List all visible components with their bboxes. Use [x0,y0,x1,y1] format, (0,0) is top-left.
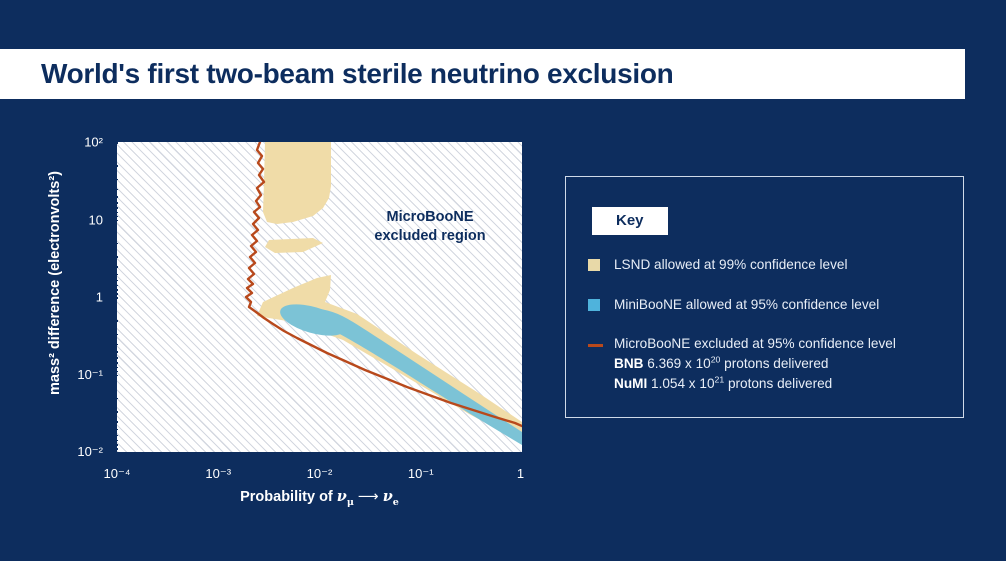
key-title: Key [592,207,668,235]
page-title: World's first two-beam sterile neutrino … [41,58,673,90]
x-tick-label-1e-2: 10⁻² [307,466,333,482]
x-axis: 10⁻⁴ 10⁻³ 10⁻² 10⁻¹ 1 [117,142,522,452]
arrow-icon: ⟶ [358,489,379,505]
exclusion-plot: mass² difference (electronvolts²) MicroB… [0,120,560,540]
bnb-value-after: protons delivered [720,356,828,371]
legend-sub-line-numi: NuMI 1.054 x 1021 protons delivered [614,374,896,394]
numi-value-after: protons delivered [724,376,832,391]
y-tick-label-100: 10² [58,135,103,150]
legend-item-lsnd: LSND allowed at 99% confidence level [588,255,951,275]
key-item-list: LSND allowed at 99% confidence level Min… [588,255,951,414]
legend-sub-line-bnb: BNB 6.369 x 1020 protons delivered [614,354,896,374]
bnb-label: BNB [614,356,643,371]
numi-label: NuMI [614,376,647,391]
x-axis-title-prefix: Probability of [240,489,333,505]
title-band: World's first two-beam sterile neutrino … [0,49,965,99]
legend-item-microboone: MicroBooNE excluded at 95% confidence le… [588,334,951,393]
bnb-value-before: 6.369 x 10 [643,356,710,371]
x-tick-label-1e-4: 10⁻⁴ [104,466,131,482]
miniboone-swatch-icon [588,299,600,311]
x-tick-label-1e-1: 10⁻¹ [408,466,434,482]
nu-mu-symbol: νμ [337,488,354,505]
y-tick-label-0.1: 10⁻¹ [58,367,103,383]
numi-value-before: 1.054 x 10 [647,376,714,391]
nu-e-symbol: νe [383,488,399,505]
legend-item-microboone-label: MicroBooNE excluded at 95% confidence le… [614,336,896,351]
lsnd-swatch-icon [588,259,600,271]
legend-item-miniboone-label: MiniBooNE allowed at 95% confidence leve… [614,295,879,315]
y-axis-title: mass² difference (electronvolts²) [47,123,63,443]
x-axis-title: Probability of νμ ⟶ νe [117,488,522,508]
y-tick-label-10: 10 [58,212,103,227]
x-tick-label-1: 1 [517,466,524,481]
legend-item-lsnd-label: LSND allowed at 99% confidence level [614,255,848,275]
x-tick-label-1e-3: 10⁻³ [205,466,231,482]
microboone-line-swatch-icon [588,344,603,347]
legend-item-miniboone: MiniBooNE allowed at 95% confidence leve… [588,295,951,315]
y-tick-label-1: 1 [58,290,103,305]
bnb-exponent: 20 [711,355,721,365]
y-tick-label-0.01: 10⁻² [58,444,103,460]
numi-exponent: 21 [715,374,725,384]
key-panel: Key LSND allowed at 99% confidence level… [565,176,964,418]
